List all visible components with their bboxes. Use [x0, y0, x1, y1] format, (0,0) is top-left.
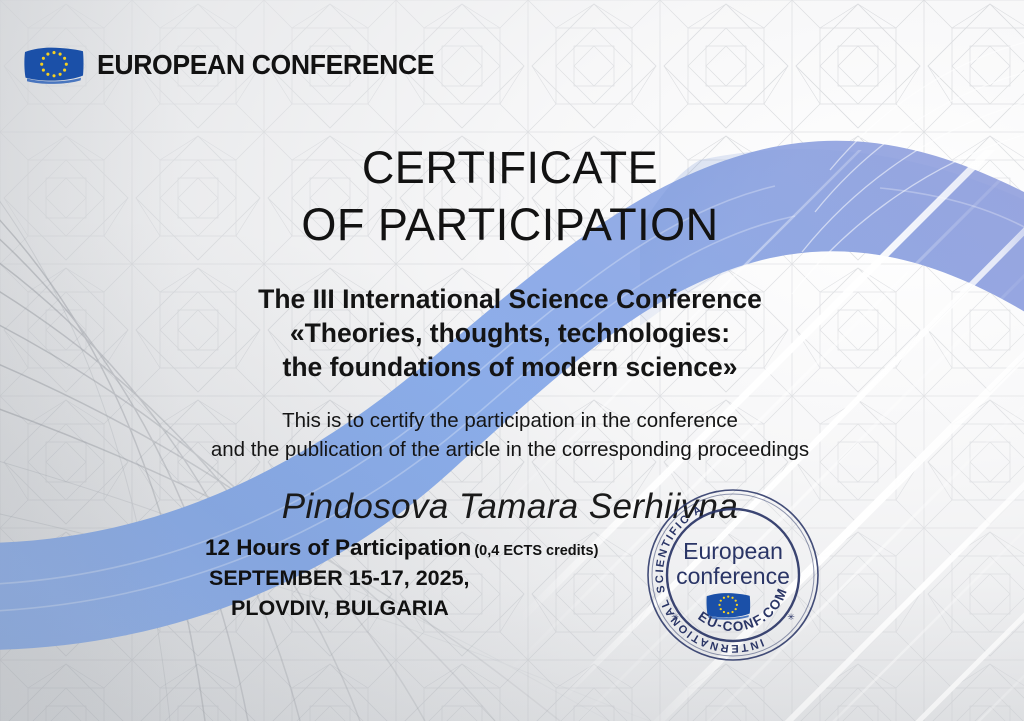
certify-text-line-1: This is to certify the participation in … [150, 406, 870, 435]
certify-text-line-2: and the publication of the article in th… [150, 435, 870, 464]
ects-credits: (0,4 ECTS credits) [474, 543, 598, 559]
conference-title-line-2: «Theories, thoughts, technologies: [150, 317, 870, 351]
conference-title: The III International Science Conference… [150, 283, 870, 384]
participation-details: 12 Hours of Participation(0,4 ECTS credi… [205, 533, 598, 624]
conference-seal: INTERNATIONAL SCIENTIFIC AND PRACTICAL C… [645, 487, 821, 663]
event-date: SEPTEMBER 15-17, 2025, [209, 563, 598, 594]
header-title: EUROPEAN CONFERENCE [97, 49, 434, 81]
certificate-title-line-2: OF PARTICIPATION [150, 197, 870, 254]
event-location: PLOVDIV, BULGARIA [231, 593, 598, 624]
seal-left-star-icon: ✳ [671, 612, 679, 622]
participation-hours: 12 Hours of Participation [205, 535, 471, 560]
conference-title-line-3: the foundations of modern science» [150, 351, 870, 385]
conference-title-line-1: The III International Science Conference [150, 283, 870, 317]
eu-flag-icon [22, 45, 86, 85]
seal-right-star-icon: ✳ [787, 612, 795, 622]
header: EUROPEAN CONFERENCE [22, 45, 452, 85]
seal-center-line-2: conference [676, 563, 790, 589]
seal-center-line-1: European [683, 538, 783, 564]
participation-hours-row: 12 Hours of Participation(0,4 ECTS credi… [205, 533, 598, 563]
certificate-title-line-1: CERTIFICATE [150, 140, 870, 197]
certificate-content: CERTIFICATE OF PARTICIPATION The III Int… [150, 140, 870, 527]
certificate-canvas: EUROPEAN CONFERENCE CERTIFICATE OF PARTI… [0, 0, 1024, 721]
certify-text: This is to certify the participation in … [150, 406, 870, 464]
